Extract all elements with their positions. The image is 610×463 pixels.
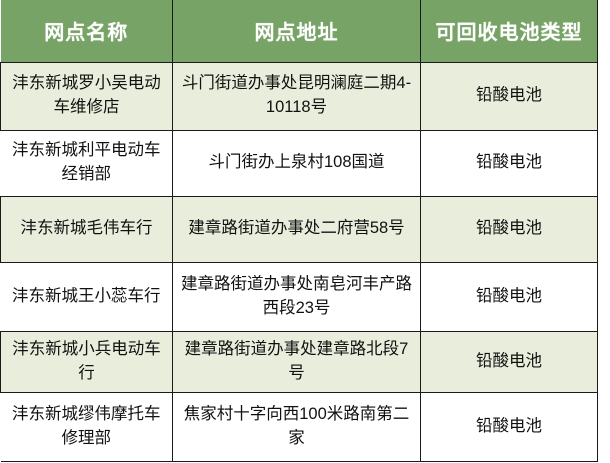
table-row: 沣东新城利平电动车经销部 斗门街办上泉村108国道 铅酸电池 bbox=[1, 130, 598, 196]
recycling-sites-table: 网点名称 网点地址 可回收电池类型 沣东新城罗小吴电动车维修店 斗门街道办事处昆… bbox=[0, 0, 598, 462]
cell-site-address: 斗门街道办事处昆明澜庭二期4-10118号 bbox=[173, 62, 421, 130]
table-body: 沣东新城罗小吴电动车维修店 斗门街道办事处昆明澜庭二期4-10118号 铅酸电池… bbox=[1, 62, 598, 461]
column-header-battery-type: 可回收电池类型 bbox=[421, 0, 598, 62]
table-row: 沣东新城小兵电动车行 建章路街道办事处建章路北段7号 铅酸电池 bbox=[1, 331, 598, 392]
cell-site-name: 沣东新城毛伟车行 bbox=[1, 196, 173, 262]
table-row: 沣东新城缪伟摩托车修理部 焦家村十字向西100米路南第二家 铅酸电池 bbox=[1, 392, 598, 461]
cell-battery-type: 铅酸电池 bbox=[421, 130, 598, 196]
recycling-sites-table-container: 网点名称 网点地址 可回收电池类型 沣东新城罗小吴电动车维修店 斗门街道办事处昆… bbox=[0, 0, 597, 461]
cell-battery-type: 铅酸电池 bbox=[421, 331, 598, 392]
table-header-row: 网点名称 网点地址 可回收电池类型 bbox=[1, 0, 598, 62]
cell-battery-type: 铅酸电池 bbox=[421, 392, 598, 461]
table-row: 沣东新城罗小吴电动车维修店 斗门街道办事处昆明澜庭二期4-10118号 铅酸电池 bbox=[1, 62, 598, 130]
cell-site-address: 建章路街道办事处二府营58号 bbox=[173, 196, 421, 262]
cell-battery-type: 铅酸电池 bbox=[421, 262, 598, 331]
cell-battery-type: 铅酸电池 bbox=[421, 196, 598, 262]
cell-site-name: 沣东新城罗小吴电动车维修店 bbox=[1, 62, 173, 130]
table-header: 网点名称 网点地址 可回收电池类型 bbox=[1, 0, 598, 62]
table-row: 沣东新城王小蕊车行 建章路街道办事处南皂河丰产路西段23号 铅酸电池 bbox=[1, 262, 598, 331]
cell-site-name: 沣东新城小兵电动车行 bbox=[1, 331, 173, 392]
column-header-name: 网点名称 bbox=[1, 0, 173, 62]
cell-battery-type: 铅酸电池 bbox=[421, 62, 598, 130]
cell-site-name: 沣东新城利平电动车经销部 bbox=[1, 130, 173, 196]
column-header-address: 网点地址 bbox=[173, 0, 421, 62]
cell-site-address: 焦家村十字向西100米路南第二家 bbox=[173, 392, 421, 461]
table-row: 沣东新城毛伟车行 建章路街道办事处二府营58号 铅酸电池 bbox=[1, 196, 598, 262]
cell-site-name: 沣东新城王小蕊车行 bbox=[1, 262, 173, 331]
cell-site-address: 建章路街道办事处南皂河丰产路西段23号 bbox=[173, 262, 421, 331]
cell-site-address: 建章路街道办事处建章路北段7号 bbox=[173, 331, 421, 392]
cell-site-name: 沣东新城缪伟摩托车修理部 bbox=[1, 392, 173, 461]
cell-site-address: 斗门街办上泉村108国道 bbox=[173, 130, 421, 196]
